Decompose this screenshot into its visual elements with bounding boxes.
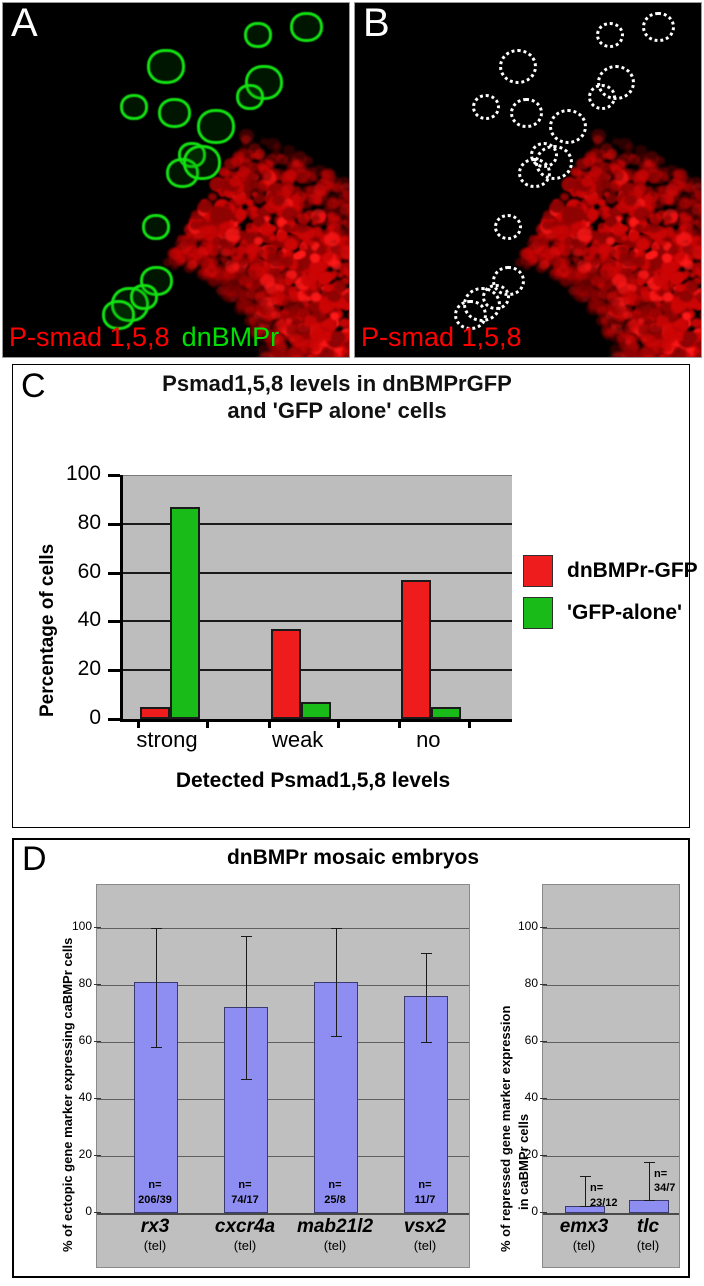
nucleus [349,221,350,227]
nucleus [583,256,590,262]
nucleus [304,316,316,327]
nucleus [251,191,258,197]
nucleus [587,209,599,220]
nucleus [598,290,608,299]
error-bar-cap [151,1047,162,1048]
y-tick-label: 60 [508,1033,538,1047]
nucleus [701,317,702,324]
nucleus [649,357,658,358]
y-tick-label: 20 [508,1147,538,1161]
nucleus [700,311,702,318]
nucleus [315,199,323,206]
nucleus [630,357,643,358]
bar [170,507,200,719]
y-tick-mark [94,1041,101,1042]
y-tick-label: 80 [62,976,92,990]
nucleus [675,229,682,235]
error-bar-line [426,953,427,1041]
nucleus [269,254,284,267]
nucleus [695,268,702,274]
gridline [543,1099,679,1100]
nucleus [621,254,636,267]
nucleus [562,278,572,287]
nucleus [664,215,672,222]
error-bar-line [156,928,157,1048]
baseline [543,1213,679,1215]
nucleus [701,258,702,266]
nucleus [311,306,318,312]
nucleus [324,285,332,292]
nucleus [634,207,650,221]
panel-c-letter: C [21,369,46,403]
nucleus [695,352,702,358]
error-bar-cap [241,936,252,937]
nucleus [651,244,658,250]
baseline [97,1213,469,1215]
nucleus [252,153,259,159]
y-tick-label: 40 [508,1090,538,1104]
nucleus [327,324,335,331]
gfp-labelled-cell [120,94,148,120]
nucleus [569,207,585,221]
outlined-cell [549,109,587,144]
y-tick-mark [108,669,120,672]
error-bar-line [649,1162,650,1201]
error-bar-cap [580,1176,591,1177]
panel-c-title: Psmad1,5,8 levels in dnBMPrGFP and 'GFP … [57,371,617,425]
panel-b-caption: P-smad 1,5,8 [361,322,522,353]
panel-a-caption-green: dnBMPr [182,322,280,352]
nucleus [282,357,296,358]
figure-root: A P-smad 1,5,8dnBMPr B P-smad 1,5,8 C Ps… [0,0,704,1286]
y-tick-mark [540,1212,547,1213]
nucleus [212,247,221,255]
legend-item-gfp-alone: 'GFP-alone' [523,597,698,629]
nucleus [305,347,312,353]
sample-size-label: n=206/39 [125,1178,185,1208]
y-tick-label: 20 [62,1147,92,1161]
y-tick-mark [540,927,547,928]
gfp-labelled-cell [197,109,235,144]
panel-d-left-chart: % of ectopic gene marker expressing caBM… [60,880,470,1268]
nucleus [260,138,268,146]
outlined-cell [642,12,675,43]
nucleus [348,324,350,332]
sample-size-value: 25/8 [324,1194,345,1206]
nucleus [550,200,565,214]
nucleus [656,316,668,327]
panel-c: C Psmad1,5,8 levels in dnBMPrGFP and 'GF… [12,364,690,828]
sample-size-prefix: n= [590,1182,603,1194]
nucleus [239,129,254,142]
nucleus [282,207,298,221]
bar [401,580,431,719]
nucleus [269,235,275,241]
nucleus [593,269,608,282]
nucleus [620,246,628,253]
y-tick-label: 100 [41,462,101,486]
nucleus [593,256,601,263]
nucleus [198,200,213,214]
panel-b-caption-red: P-smad 1,5,8 [361,322,522,352]
nucleus [254,237,263,245]
sample-size-label: n=34/7 [654,1167,704,1197]
sample-size-value: 11/7 [415,1194,436,1206]
gfp-labelled-cell [147,49,185,84]
error-bar-cap [331,1036,342,1037]
sample-size-label: n=74/17 [215,1178,275,1208]
nucleus [288,293,298,302]
nucleus [673,348,687,358]
nucleus [231,256,238,262]
nucleus [295,301,304,309]
nucleus [634,357,648,358]
bar [271,629,301,719]
nucleus [238,299,245,305]
y-tick-mark [94,927,101,928]
nucleus [200,225,211,235]
y-tick-mark [540,1041,547,1042]
y-tick-label: 40 [62,1090,92,1104]
nucleus [604,153,611,159]
nucleus [701,357,702,358]
bar [301,702,331,719]
error-bar-line [585,1176,586,1206]
outlined-cell [588,84,616,110]
nucleus [610,315,625,328]
y-tick-mark [94,1098,101,1099]
nucleus [343,191,350,202]
nucleus [210,179,222,190]
nucleus [318,272,331,284]
nucleus [603,191,610,197]
nucleus [663,175,671,182]
panel-a-tissue [3,3,349,357]
panel-a-letter: A [11,3,38,43]
x-tick-label: vsx2 [370,1216,480,1238]
nucleus [562,179,574,190]
gfp-labelled-cell [244,22,272,48]
nucleus [311,292,321,301]
error-bar-cap [644,1200,655,1201]
nucleus [533,240,540,246]
gfp-labelled-cell [183,145,221,180]
nucleus [210,278,220,287]
panel-b-tissue [355,3,701,357]
nucleus [590,166,603,177]
nucleus [175,255,185,264]
y-tick-mark [94,984,101,985]
nucleus [701,221,702,227]
panel-c-plot-top-rule [123,475,512,476]
legend-swatch-gfp-alone [523,597,553,629]
outlined-cell [482,284,510,310]
y-tick-label: 20 [41,657,101,681]
outlined-cell [494,214,522,240]
error-bar-cap [331,928,342,929]
y-tick-label: 0 [62,1204,92,1218]
nucleus [306,185,318,196]
y-tick-mark [540,1155,547,1156]
y-tick-label: 100 [508,919,538,933]
outlined-cell [472,94,500,120]
nucleus [232,285,244,295]
nucleus [244,186,251,192]
nucleus [277,154,289,165]
nucleus [618,138,631,150]
nucleus [673,305,682,313]
legend-item-dnbmpr-gfp: dnBMPr-GFP [523,555,698,587]
legend-swatch-dnbmpr-gfp [523,555,553,587]
sample-size-value: 23/12 [590,1197,618,1209]
nucleus [241,269,256,282]
nucleus [596,186,603,192]
nucleus [653,273,669,287]
y-tick-label: 100 [62,919,92,933]
panel-d-right-chart: % of repressed gene marker expression in… [492,880,680,1268]
x-tick-label: no [383,727,473,753]
nucleus [235,209,247,220]
error-bar-cap [241,1079,252,1080]
nucleus [284,238,298,251]
error-bar-line [336,928,337,1036]
nucleus [212,236,224,246]
nucleus [638,324,651,336]
nucleus [231,156,243,167]
panel-d-title: dnBMPr mosaic embryos [14,846,692,870]
gfp-labelled-cell [158,98,191,129]
nucleus [663,306,670,312]
panel-d: D dnBMPr mosaic embryos % of ectopic gen… [12,838,690,1278]
panel-c-title-line2: and 'GFP alone' cells [57,398,617,425]
sample-size-prefix: n= [328,1179,341,1191]
nucleus [663,292,673,301]
nucleus [541,260,549,267]
nucleus [637,170,647,179]
gridline [543,1042,679,1043]
nucleus [527,255,537,264]
nucleus [657,347,664,353]
outlined-cell [499,49,537,84]
nucleus [635,145,646,155]
gridline [543,1156,679,1157]
nucleus [606,329,615,337]
x-tick-label: weak [253,727,343,753]
sample-size-value: 74/17 [231,1194,259,1206]
nucleus [189,260,197,267]
nucleus [340,208,350,219]
panel-d-right-y-axis-label-line2: in caBMPr cells [516,1114,531,1210]
nucleus [343,352,350,358]
nucleus [349,206,350,215]
nucleus [701,241,702,254]
y-tick-mark [108,474,120,477]
sample-size-label: n=11/7 [395,1178,455,1208]
nucleus [610,163,618,170]
nucleus [655,156,665,165]
nucleus [321,305,330,313]
y-tick-mark [540,1098,547,1099]
panel-a-caption-red: P-smad 1,5,8 [9,322,170,352]
error-bar-cap [644,1162,655,1163]
nucleus [625,339,631,345]
y-tick-mark [94,1212,101,1213]
nucleus [667,199,675,206]
error-bar-line [246,936,247,1079]
nucleus [612,138,620,146]
nucleus [217,207,233,221]
legend-label-gfp-alone: 'GFP-alone' [567,601,682,625]
nucleus [700,324,702,332]
nucleus [591,129,606,142]
nucleus [349,258,350,266]
panel-a-caption: P-smad 1,5,8dnBMPr [9,322,279,353]
nucleus [278,357,291,358]
y-tick-mark [540,984,547,985]
nucleus [246,290,256,299]
nucleus [629,154,641,165]
legend-label-dnbmpr-gfp: dnBMPr-GFP [567,559,698,583]
nucleus [268,246,276,253]
gfp-labelled-cell [142,214,170,240]
nucleus [270,290,285,303]
outlined-cell [535,145,573,180]
panel-d-left-plot-area [96,884,470,1268]
nucleus [303,156,313,165]
gfp-labelled-cell [236,84,264,110]
panel-c-title-line1: Psmad1,5,8 levels in dnBMPrGFP [57,371,617,398]
sample-size-value: 34/7 [654,1182,675,1194]
nucleus [349,317,350,324]
nucleus [238,166,251,177]
nucleus [658,185,670,196]
nucleus [322,170,331,178]
nucleus [266,138,279,150]
y-tick-label: 0 [41,706,101,730]
panel-a-micrograph: A P-smad 1,5,8dnBMPr [2,2,350,358]
nucleus [296,223,308,233]
nucleus [583,156,595,167]
y-tick-label: 80 [41,511,101,535]
nucleus [606,237,615,245]
y-tick-mark [94,1155,101,1156]
sample-size-prefix: n= [654,1168,667,1180]
y-tick-mark [108,572,120,575]
nucleus [621,235,627,241]
nucleus [674,170,683,178]
sample-size-prefix: n= [148,1179,161,1191]
nucleus [624,321,637,333]
nucleus [590,299,597,305]
nucleus [349,357,350,358]
y-tick-label: 40 [41,608,101,632]
error-bar-cap [151,928,162,929]
y-tick-mark [108,523,120,526]
nucleus [323,229,330,235]
gfp-labelled-cell [290,12,323,43]
y-tick-mark [108,718,120,721]
nucleus [552,225,563,235]
sample-size-value: 206/39 [138,1194,172,1206]
micrograph-row: A P-smad 1,5,8dnBMPr B P-smad 1,5,8 [0,0,704,358]
nucleus [640,293,650,302]
nucleus [311,175,319,182]
panel-b-micrograph: B P-smad 1,5,8 [354,2,702,358]
nucleus [612,170,624,181]
outlined-cell [596,22,624,48]
x-tick-label: strong [122,727,212,753]
sample-size-prefix: n= [418,1179,431,1191]
y-tick-label: 60 [62,1033,92,1047]
sample-size-prefix: n= [238,1179,251,1191]
nucleus [241,256,249,263]
nucleus [679,324,687,331]
panel-c-x-axis-label: Detected Psmad1,5,8 levels [73,769,553,793]
y-tick-label: 60 [41,560,101,584]
bar [431,707,461,719]
y-tick-label: 80 [508,976,538,990]
nucleus [286,324,299,336]
nucleus [301,273,317,287]
x-tick-sublabel: (tel) [370,1238,480,1253]
panel-c-legend: dnBMPr-GFP 'GFP-alone' [523,555,698,639]
panel-b-letter: B [363,3,390,43]
nucleus [647,301,656,309]
nucleus [564,236,576,246]
gridline [543,928,679,929]
x-tick-sublabel: (tel) [593,1238,703,1253]
nucleus [686,281,698,292]
nucleus [283,145,294,155]
nucleus [343,268,350,274]
nucleus [297,357,306,358]
nucleus [584,285,596,295]
error-bar-cap [421,953,432,954]
nucleus [648,223,660,233]
nucleus [676,285,684,292]
y-tick-mark [108,620,120,623]
nucleus [181,240,188,246]
panel-c-plot-area [120,475,512,719]
bar [140,707,170,719]
nucleus [239,231,246,237]
nucleus [622,290,637,303]
nucleus [285,170,295,179]
nucleus [670,272,683,284]
x-tick-label: tlc [593,1216,703,1238]
nucleus [258,163,266,170]
panel-c-x-axis [120,719,512,722]
nucleus [260,170,272,181]
nucleus [299,244,306,250]
sample-size-label: n=23/12 [590,1181,642,1211]
nucleus [312,215,320,222]
nucleus [334,281,346,292]
nucleus [695,191,702,202]
nucleus [564,247,573,255]
gfp-labelled-cell [130,284,158,310]
gridline [543,985,679,986]
nucleus [348,311,350,318]
nucleus [349,241,350,254]
nucleus [321,348,335,358]
error-bar-cap [421,1042,432,1043]
sample-size-label: n=25/8 [305,1178,365,1208]
nucleus [636,238,650,251]
outlined-cell [510,98,543,129]
nucleus [701,206,702,215]
nucleus [591,231,598,237]
